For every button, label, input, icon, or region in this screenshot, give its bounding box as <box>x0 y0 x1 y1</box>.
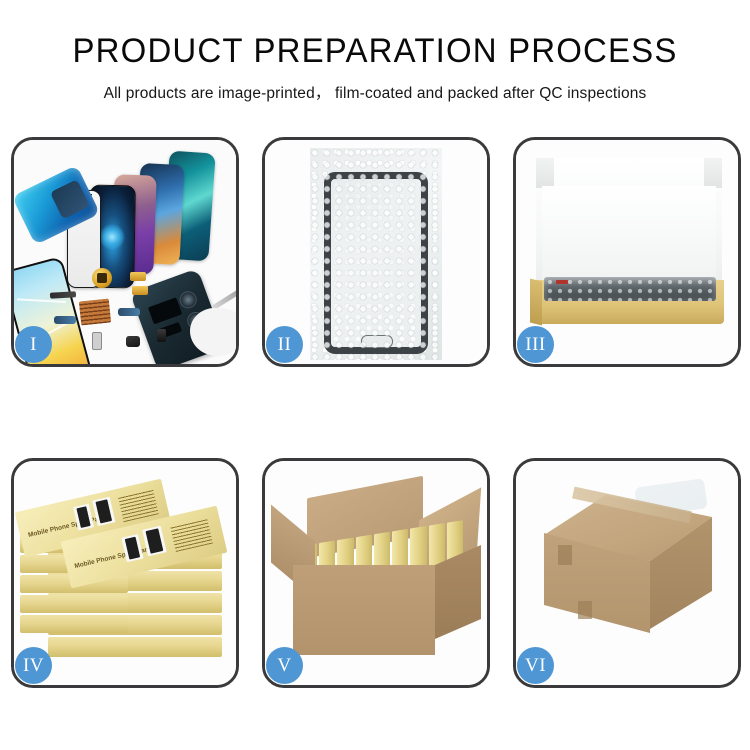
gold-tab-1 <box>130 272 146 281</box>
panel-5-image <box>265 461 487 685</box>
camera-lens-1 <box>177 289 199 311</box>
speaker-part <box>126 336 140 347</box>
panel-badge-3: III <box>517 326 554 363</box>
bubble-wrap-sheet <box>310 148 442 360</box>
process-panel-6: VI <box>513 458 741 688</box>
copper-mesh-part <box>79 298 111 325</box>
panel-3-image <box>516 140 738 364</box>
box-spec-lines-2 <box>170 517 213 552</box>
process-panel-1: I <box>11 137 239 367</box>
flex-cable-2 <box>118 308 140 316</box>
panel-4-image: Mobile Phone Spare Parts Mobile Phone Sp… <box>14 461 236 685</box>
process-panel-grid: I II III <box>11 137 739 688</box>
panel-1-image <box>14 140 236 364</box>
page-title: PRODUCT PREPARATION PROCESS <box>11 34 739 68</box>
carton-handle-hole-bottom <box>578 601 592 619</box>
panel-badge-2: II <box>266 326 303 363</box>
page-header: PRODUCT PREPARATION PROCESS All products… <box>0 0 750 103</box>
battery-part <box>157 329 166 342</box>
panel-badge-4: IV <box>15 647 52 684</box>
panel-badge-1: I <box>15 326 52 363</box>
gold-tab-2 <box>132 286 148 295</box>
process-panel-3: III <box>513 137 741 367</box>
process-panel-4: Mobile Phone Spare Parts Mobile Phone Sp… <box>11 458 239 688</box>
process-panel-2: II <box>262 137 490 367</box>
stacked-box-l5 <box>20 615 128 633</box>
carton-front-face <box>293 565 435 655</box>
carton-handle-hole-top <box>558 545 572 565</box>
chip-large <box>148 297 182 324</box>
packed-screen <box>544 277 716 301</box>
panel-badge-6: VI <box>517 647 554 684</box>
gold-connector-part <box>92 268 112 288</box>
foam-insert <box>542 186 716 282</box>
red-label-mark <box>556 280 568 284</box>
wrapped-screen <box>324 172 428 354</box>
box-stack: Mobile Phone Spare Parts Mobile Phone Sp… <box>20 489 236 679</box>
page-subtitle: All products are image-printed， film-coa… <box>0 81 750 103</box>
box-spec-lines-1 <box>118 489 159 522</box>
panel-2-image <box>265 140 487 364</box>
panel-badge-5: V <box>266 647 303 684</box>
process-panel-5: V <box>262 458 490 688</box>
flex-cable-1 <box>54 316 76 324</box>
panel-6-image <box>516 461 738 685</box>
stacked-box-r5 <box>48 637 222 657</box>
stacked-box-l4 <box>20 595 128 613</box>
sim-tray-part <box>92 332 102 350</box>
